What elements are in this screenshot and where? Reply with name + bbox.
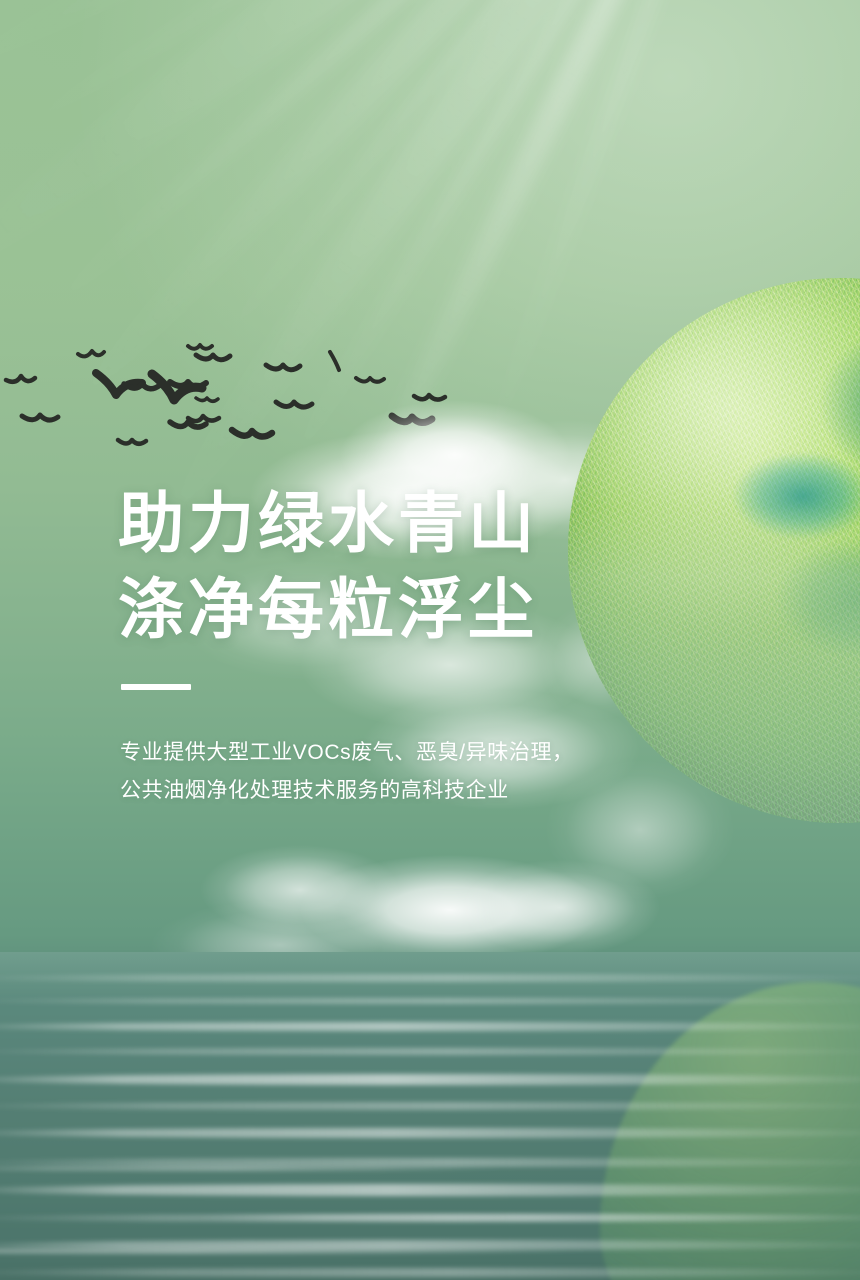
birds-flock (0, 318, 470, 458)
water-ripple (0, 1268, 860, 1277)
water-surface (0, 952, 860, 1280)
headline-line-2: 涤净每粒浮尘 (118, 566, 678, 652)
water-ripple (0, 1248, 602, 1254)
water-ripple (0, 1240, 860, 1250)
water-ripple (0, 1128, 860, 1138)
hero-text-block: 助力绿水青山 涤净每粒浮尘 专业提供大型工业VOCs废气、恶臭/异味治理， 公共… (118, 480, 678, 810)
globe-reflection (600, 982, 860, 1280)
water-ripple (0, 998, 860, 1004)
water-ripple (0, 1022, 860, 1031)
headline-line-1: 助力绿水青山 (118, 480, 678, 566)
eco-poster: 助力绿水青山 涤净每粒浮尘 专业提供大型工业VOCs废气、恶臭/异味治理， 公共… (0, 0, 860, 1280)
water-ripple (0, 1074, 860, 1085)
water-ripple (0, 974, 860, 982)
globe-landmass (732, 452, 860, 539)
cloud-shape (300, 855, 600, 965)
bird-icon (0, 318, 470, 458)
cloud-shape (200, 845, 400, 935)
reflection-texture (600, 982, 860, 1280)
globe-landmass (819, 311, 860, 496)
water-ripple (0, 1102, 860, 1110)
water-ripple (0, 1158, 860, 1167)
cloud-shape (150, 900, 410, 990)
subtitle-line-1: 专业提供大型工业VOCs废气、恶臭/异味治理， (120, 734, 678, 772)
globe-landmass (775, 540, 860, 660)
water-ripple (0, 1048, 860, 1055)
headline-divider (121, 684, 191, 690)
water-ripple (0, 1184, 860, 1196)
water-ripple (0, 1214, 860, 1222)
water-ripple (189, 1214, 860, 1221)
subtitle-line-2: 公共油烟净化处理技术服务的高科技企业 (120, 772, 678, 810)
water-ripple (0, 1166, 516, 1171)
cloud-shape (460, 860, 660, 955)
